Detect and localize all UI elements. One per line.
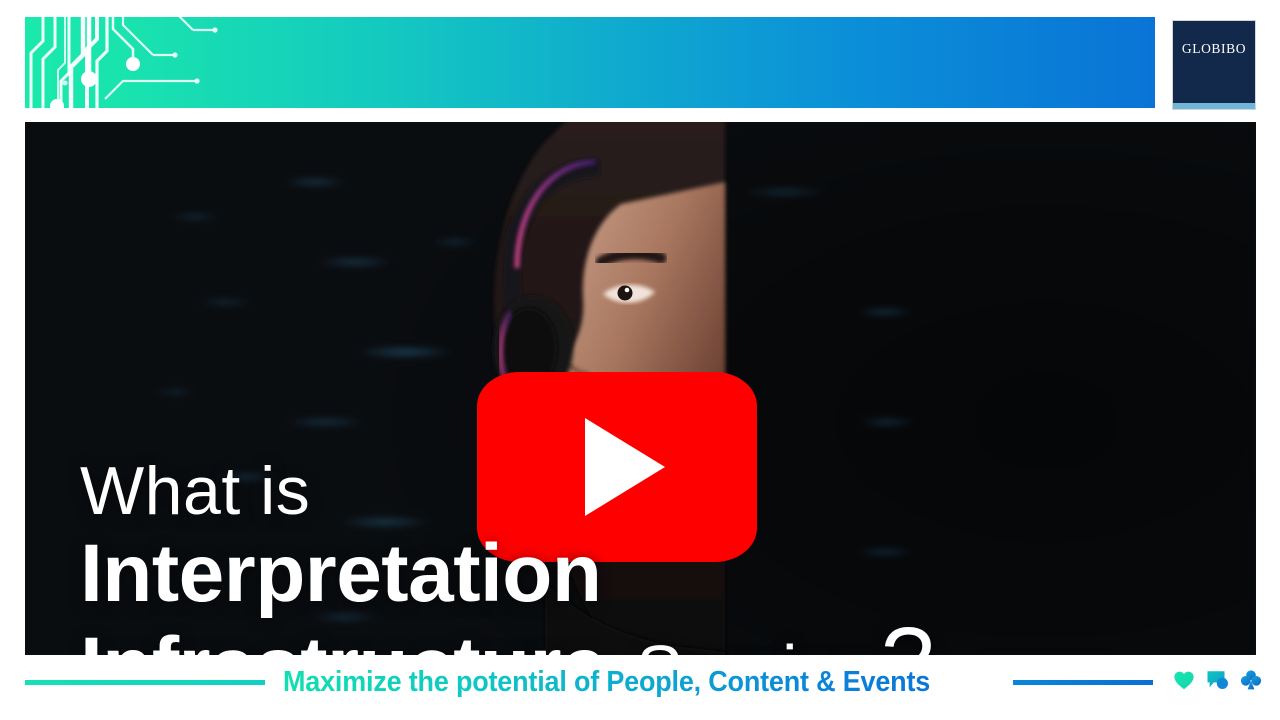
footer-rule-left: [25, 680, 265, 685]
footer-icon-row: [1172, 668, 1263, 692]
globibo-logo[interactable]: GLOBIBO: [1172, 20, 1256, 110]
club-icon: [1239, 668, 1263, 692]
slide-canvas: GLOBIBO: [0, 0, 1280, 720]
title-word-infrastructure: Infrastructure: [80, 624, 606, 655]
logo-wordmark: GLOBIBO: [1182, 41, 1246, 57]
title-line-infrastructure-service: Infrastructure Service ?: [80, 614, 934, 655]
footer-tagline-text: Maximize the potential of People, Conten…: [283, 660, 953, 704]
heart-icon: [1172, 668, 1196, 692]
youtube-video-thumbnail[interactable]: What is Interpretation Infrastructure Se…: [25, 122, 1256, 655]
title-word-service: Service: [636, 635, 873, 655]
logo-accent-strip: [1173, 103, 1255, 109]
header-gradient-banner: [25, 17, 1155, 108]
circuit-trace-pattern: [25, 17, 345, 108]
title-question-mark: ?: [881, 614, 934, 655]
footer-tagline-bar: Maximize the potential of People, Conten…: [0, 660, 1280, 720]
footer-rule-right: [1013, 680, 1153, 685]
speech-bubble-icon: [1205, 668, 1230, 692]
video-title: What is Interpretation Infrastructure Se…: [80, 457, 934, 655]
title-line-interpretation: Interpretation: [80, 531, 934, 616]
title-line-what-is: What is: [80, 457, 934, 525]
